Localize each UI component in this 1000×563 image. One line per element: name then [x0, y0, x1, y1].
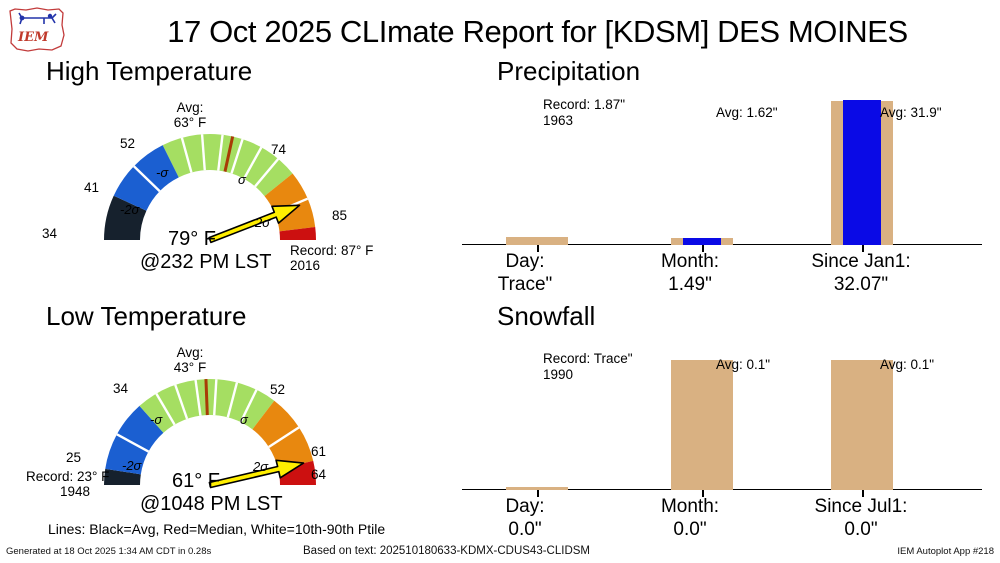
- snow-xlabel-2: Since Jul1: 0.0": [766, 495, 956, 541]
- precip-annotation-1: Avg: 1.62": [716, 105, 778, 121]
- gauge-low-tick-34: 34: [113, 381, 128, 396]
- bar-reference: [831, 360, 893, 490]
- bar-reference: [506, 237, 568, 245]
- snow-xlabel-1: Month: 0.0": [600, 495, 780, 541]
- precip-xlabel-1: Month: 1.49": [600, 250, 780, 296]
- gauge-high-tick-74: 74: [271, 142, 286, 157]
- precip-annotation-2: Avg: 31.9": [880, 105, 942, 121]
- snow-xlabel-0: Day: 0.0": [435, 495, 615, 541]
- gauge-high-sigma-neg1: -σ: [156, 165, 168, 180]
- bar-observed: [843, 100, 881, 245]
- gauge-high-tick-85: 85: [332, 208, 347, 223]
- gauge-low-value: 61° F: [172, 470, 220, 493]
- panel-title-low-temperature: Low Temperature: [46, 301, 246, 331]
- snow-annotation-1: Avg: 0.1": [716, 357, 770, 373]
- gauge-high-avg-label: Avg: 63° F: [145, 100, 235, 130]
- gauge-high-sigma-pos1: σ: [238, 172, 246, 187]
- gauge-low-tick-25: 25: [66, 450, 81, 465]
- climate-report-page: IEM 17 Oct 2025 CLImate Report for [KDSM…: [0, 0, 1000, 563]
- footer-generated: Generated at 18 Oct 2025 1:34 AM CDT in …: [6, 546, 211, 557]
- gauge-high-tick-41: 41: [84, 180, 99, 195]
- gauge-high-tick-52: 52: [120, 136, 135, 151]
- gauge-low-record: Record: 23° F 1948: [26, 469, 109, 499]
- gauge-low-sigma-pos1: σ: [240, 412, 248, 427]
- panel-title-high-temperature: High Temperature: [46, 56, 252, 86]
- panel-title-snowfall: Snowfall: [497, 301, 595, 331]
- iem-logo: IEM: [6, 5, 68, 53]
- bar-observed: [683, 238, 721, 245]
- gauge-legend-note: Lines: Black=Avg, Red=Median, White=10th…: [48, 521, 385, 537]
- svg-text:IEM: IEM: [17, 30, 49, 45]
- gauge-high-tick-34: 34: [42, 226, 57, 241]
- gauge-low-tick-61: 61: [311, 444, 326, 459]
- page-title: 17 Oct 2025 CLImate Report for [KDSM] DE…: [80, 10, 995, 54]
- precip-xlabel-0: Day: Trace": [435, 250, 615, 296]
- gauge-high-sigma-neg2: -2σ: [120, 202, 139, 217]
- panel-title-precipitation: Precipitation: [497, 56, 640, 86]
- snow-annotation-2: Avg: 0.1": [880, 357, 934, 373]
- footer-app: IEM Autoplot App #218: [897, 546, 994, 557]
- gauge-high-record: Record: 87° F 2016: [290, 243, 373, 273]
- precip-xlabel-2: Since Jan1: 32.07": [766, 250, 956, 296]
- gauge-high-time: @232 PM LST: [140, 251, 271, 274]
- gauge-low-tick-64: 64: [311, 467, 326, 482]
- gauge-low-tick-52: 52: [270, 382, 285, 397]
- gauge-low-avg-label: Avg: 43° F: [145, 345, 235, 375]
- snow-annotation-0: Record: Trace" 1990: [543, 351, 633, 383]
- footer-source: Based on text: 202510180633-KDMX-CDUS43-…: [303, 545, 590, 557]
- gauge-high-value: 79° F: [168, 228, 216, 251]
- gauge-high-sigma-pos2: 2σ: [255, 215, 270, 230]
- gauge-low-sigma-neg2: -2σ: [122, 458, 141, 473]
- precip-annotation-0: Record: 1.87" 1963: [543, 97, 625, 129]
- gauge-low-sigma-neg1: -σ: [150, 412, 162, 427]
- gauge-low-time: @1048 PM LST: [140, 493, 283, 516]
- gauge-low-sigma-pos2: 2σ: [253, 459, 268, 474]
- bar-reference: [671, 360, 733, 490]
- chart-precipitation: [462, 100, 982, 245]
